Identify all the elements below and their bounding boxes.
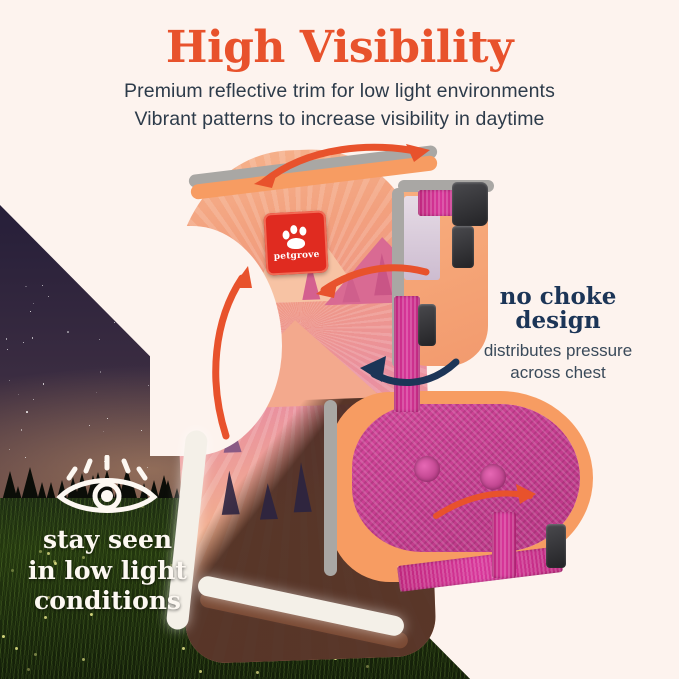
double-headed-arrow-icon [430,478,540,530]
paw-print-icon [280,224,311,250]
reflective-trim-chest [324,400,337,576]
print-tree-night [259,483,278,520]
no-choke-subtext: distributes pressure across chest [442,340,674,383]
adjuster-slider-bottom[interactable] [546,524,566,568]
low-light-text: stay seen in low light conditions [0,525,215,617]
annotation-no-choke: no choke design distributes pressure acr… [442,285,674,383]
no-choke-heading: no choke design [442,285,674,333]
infographic-canvas: High Visibility Premium reflective trim … [0,0,679,679]
eye-icon [52,455,162,515]
print-tree-night [220,470,240,515]
subtitle-line-2: Vibrant patterns to increase visibility … [0,108,679,131]
side-release-buckle[interactable] [452,182,488,226]
page-title: High Visibility [0,22,679,73]
print-tree-night [292,462,312,513]
subtitle-line-1: Premium reflective trim for low light en… [0,80,679,103]
buckle-tail[interactable] [452,226,474,268]
double-headed-arrow-icon [316,256,436,306]
double-headed-arrow-icon [248,140,438,196]
double-headed-arrow-icon [196,250,306,450]
annotation-low-light: stay seen in low light conditions [0,525,215,617]
